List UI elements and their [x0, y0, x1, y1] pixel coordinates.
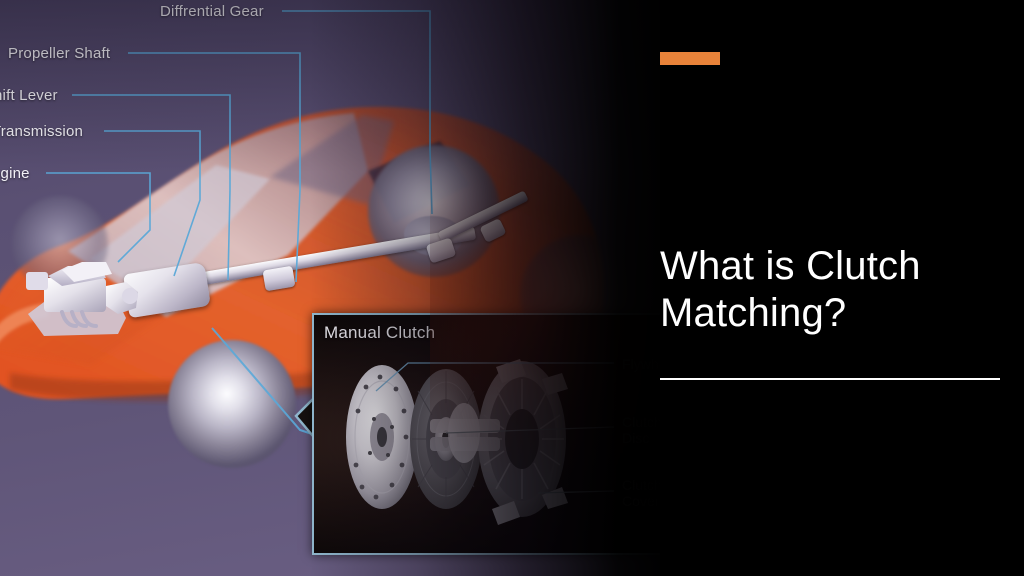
wheel-front	[168, 340, 296, 468]
manual-clutch-inset-panel: Manual Clutch Flywhe ClutchDisc ClutchCo…	[312, 313, 666, 555]
callout-label-propeller-shaft: Propeller Shaft	[8, 45, 110, 62]
inset-title: Manual Clutch	[324, 323, 435, 343]
accent-bar	[660, 52, 720, 65]
callout-label-shift-lever: hift Lever	[0, 87, 58, 104]
page-title: What is Clutch Matching?	[660, 243, 1010, 337]
title-underline-rule	[660, 378, 1000, 380]
slide-canvas: Diffrential Gear Propeller Shaft hift Le…	[0, 0, 1024, 576]
callout-label-transmission: Transmission	[0, 123, 83, 140]
inset-callout-clutch-disc: ClutchDisc	[622, 415, 662, 446]
clutch-assembly-art	[314, 315, 664, 553]
inset-callout-clutch-cover: ClutchCover	[622, 478, 662, 509]
callout-label-differential-gear: Diffrential Gear	[160, 3, 264, 20]
title-panel: What is Clutch Matching?	[660, 0, 1024, 576]
engine-block	[22, 256, 150, 348]
callout-label-engine: ngine	[0, 165, 30, 182]
